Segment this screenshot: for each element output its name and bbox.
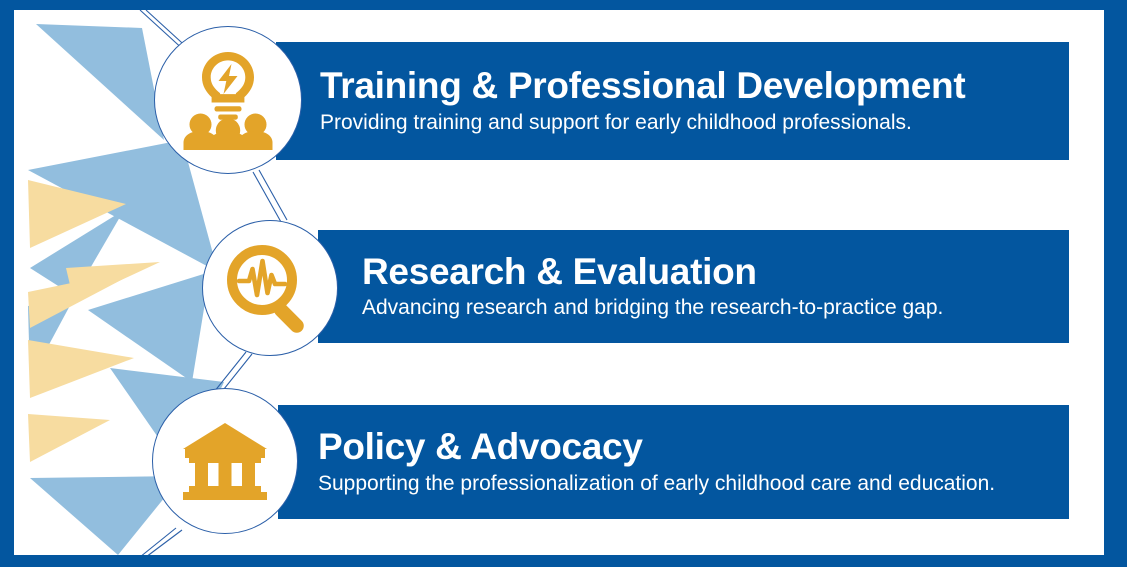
- classical-building-icon: [179, 421, 271, 501]
- badge-training-professional-development[interactable]: [154, 26, 302, 174]
- frame-top-band: [0, 0, 1127, 10]
- row-subtitle-2: Advancing research and bridging the rese…: [362, 296, 1069, 320]
- row-bar-1: Training & Professional Development Prov…: [276, 42, 1069, 160]
- row-bar-3: Policy & Advocacy Supporting the profess…: [278, 405, 1069, 519]
- row-title-2: Research & Evaluation: [362, 253, 1069, 291]
- row-bar-2: Research & Evaluation Advancing research…: [318, 230, 1069, 343]
- magnifier-pulse-icon: [224, 242, 316, 334]
- lightbulb-people-icon: [182, 50, 274, 150]
- badge-research-evaluation[interactable]: [202, 220, 338, 356]
- frame-right-band: [1104, 0, 1127, 567]
- frame-left-band: [0, 0, 14, 567]
- row-subtitle-3: Supporting the professionalization of ea…: [318, 472, 1069, 496]
- infographic-canvas: Training & Professional Development Prov…: [0, 0, 1127, 567]
- row-title-1: Training & Professional Development: [320, 67, 1069, 105]
- row-subtitle-1: Providing training and support for early…: [320, 111, 1069, 135]
- row-title-3: Policy & Advocacy: [318, 428, 1069, 466]
- frame-bottom-band: [0, 555, 1127, 567]
- badge-policy-advocacy[interactable]: [152, 388, 298, 534]
